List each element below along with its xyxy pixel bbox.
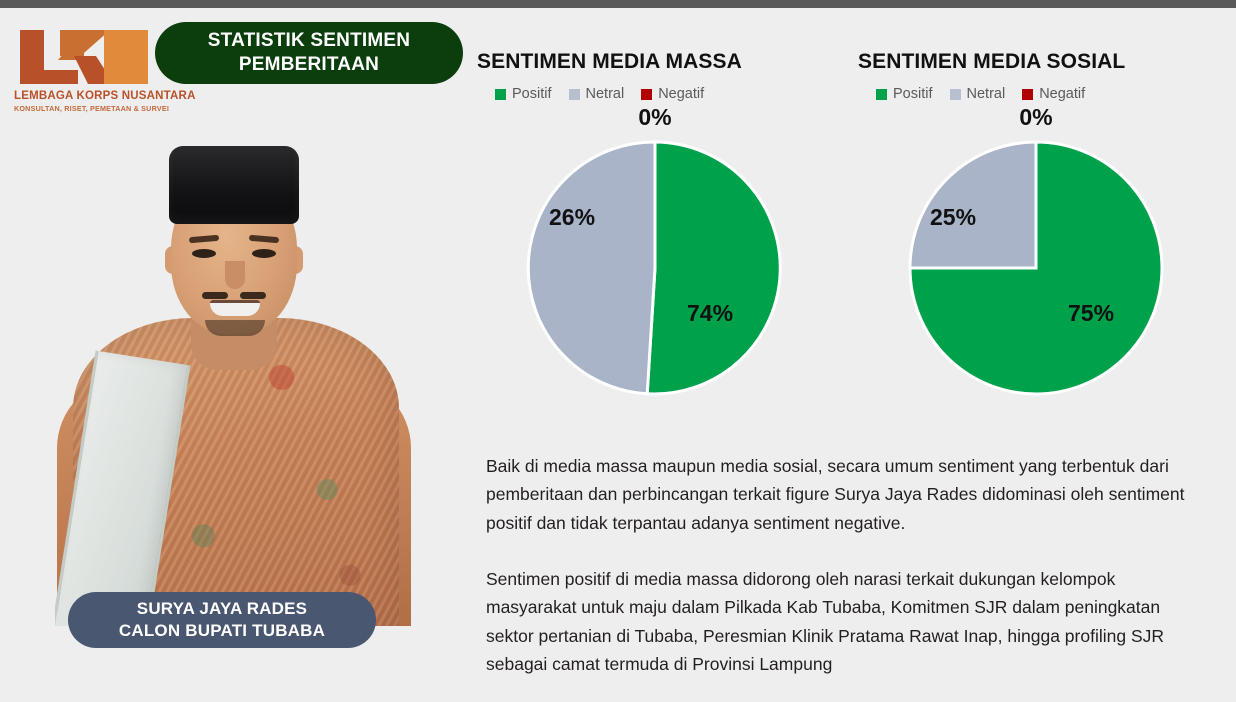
chart-panel-media-massa: SENTIMEN MEDIA MASSA Positif Netral Nega…	[477, 50, 852, 408]
photo-eye-right	[252, 249, 276, 258]
pie-slice-positif-media-massa	[647, 142, 780, 394]
page-title-line2: PEMBERITAAN	[239, 54, 379, 75]
lkn-logo-mark	[14, 26, 154, 88]
page-title-line1: STATISTIK SENTIMEN	[208, 30, 410, 51]
photo-mouth	[210, 300, 260, 316]
pie-label-negatif-media-sosial: 0%	[886, 104, 1186, 131]
narrative-paragraph-1: Baik di media massa maupun media sosial,…	[486, 452, 1186, 537]
candidate-position: CALON BUPATI TUBABA	[119, 620, 325, 642]
chart-title-media-massa: SENTIMEN MEDIA MASSA	[477, 50, 852, 74]
legend-item-negatif-sosial[interactable]: Negatif	[1022, 86, 1085, 102]
page-title: STATISTIK SENTIMEN PEMBERITAAN	[208, 29, 410, 77]
candidate-photo	[55, 86, 415, 626]
photo-chin-beard	[205, 320, 265, 336]
legend-item-positif[interactable]: Positif	[495, 86, 552, 102]
chart-title-media-sosial: SENTIMEN MEDIA SOSIAL	[858, 50, 1233, 74]
chart-legend-media-massa: Positif Netral Negatif	[477, 86, 852, 102]
legend-item-netral[interactable]: Netral	[569, 86, 625, 102]
legend-swatch-netral-icon	[950, 89, 961, 100]
slide-canvas: LEMBAGA KORPS NUSANTARA KONSULTAN, RISET…	[0, 0, 1236, 702]
chart-legend-media-sosial: Positif Netral Negatif	[858, 86, 1233, 102]
legend-label-netral: Netral	[586, 86, 625, 102]
pie-label-negatif-media-massa: 0%	[505, 104, 805, 131]
legend-item-positif-sosial[interactable]: Positif	[876, 86, 933, 102]
pie-slice-netral-media-massa	[528, 142, 655, 394]
pie-svg-media-sosial	[886, 108, 1186, 408]
photo-eye-left	[192, 249, 216, 258]
pie-chart-media-massa: 0% 26% 74%	[505, 108, 805, 408]
narrative-paragraph-2: Sentimen positif di media massa didorong…	[486, 565, 1186, 678]
legend-swatch-negatif-icon	[641, 89, 652, 100]
legend-label-positif-sosial: Positif	[893, 86, 933, 102]
top-bar	[0, 0, 1236, 8]
legend-item-netral-sosial[interactable]: Netral	[950, 86, 1006, 102]
legend-swatch-positif-icon	[495, 89, 506, 100]
legend-swatch-positif-icon	[876, 89, 887, 100]
photo-nose	[225, 261, 245, 289]
candidate-name-banner: SURYA JAYA RADES CALON BUPATI TUBABA	[68, 592, 376, 648]
pie-label-netral-media-sosial: 25%	[930, 204, 976, 231]
pie-label-positif-media-massa: 74%	[687, 300, 733, 327]
legend-label-positif: Positif	[512, 86, 552, 102]
legend-label-netral-sosial: Netral	[967, 86, 1006, 102]
pie-label-positif-media-sosial: 75%	[1068, 300, 1114, 327]
pie-label-netral-media-massa: 26%	[549, 204, 595, 231]
legend-swatch-netral-icon	[569, 89, 580, 100]
legend-swatch-negatif-icon	[1022, 89, 1033, 100]
pie-svg-media-massa	[505, 108, 805, 408]
photo-moustache-right	[240, 292, 266, 299]
legend-label-negatif-sosial: Negatif	[1039, 86, 1085, 102]
candidate-name: SURYA JAYA RADES	[137, 598, 307, 620]
legend-item-negatif[interactable]: Negatif	[641, 86, 704, 102]
legend-label-negatif: Negatif	[658, 86, 704, 102]
lkn-monogram-icon	[14, 26, 154, 88]
pie-chart-media-sosial: 0% 25% 75%	[886, 108, 1186, 408]
photo-peci-cap	[169, 146, 299, 224]
chart-panel-media-sosial: SENTIMEN MEDIA SOSIAL Positif Netral Neg…	[858, 50, 1233, 408]
photo-moustache-left	[202, 292, 228, 299]
slide-title-pill: STATISTIK SENTIMEN PEMBERITAAN	[155, 22, 463, 84]
